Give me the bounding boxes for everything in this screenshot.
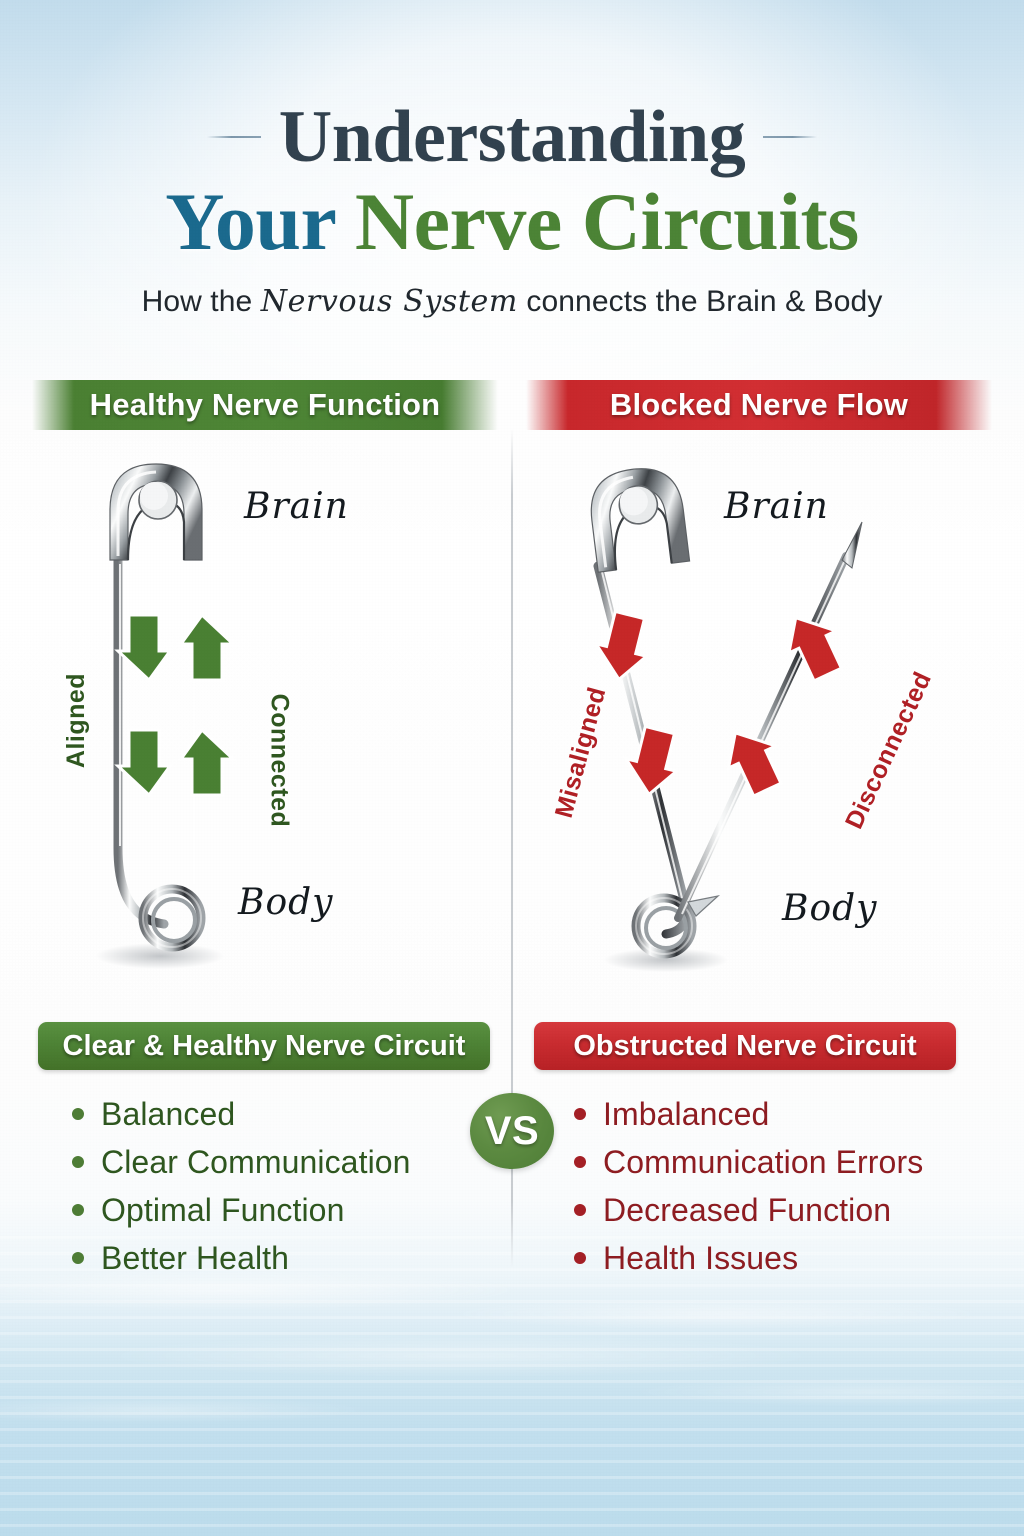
pill-clear-healthy-circuit: Clear & Healthy Nerve Circuit: [38, 1022, 490, 1070]
title-understanding: Understanding: [279, 96, 745, 178]
pill-obstructed-circuit: Obstructed Nerve Circuit: [534, 1022, 956, 1070]
bullet-text: Clear Communication: [101, 1144, 411, 1181]
bullet-dot-icon: [574, 1204, 586, 1216]
list-item: Clear Communication: [72, 1138, 498, 1186]
label-body-left: Body: [238, 882, 334, 923]
bullet-dot-icon: [574, 1156, 586, 1168]
bullet-text: Balanced: [101, 1096, 235, 1133]
panel-blocked: Blocked Nerve Flow: [526, 380, 992, 1270]
list-item: Imbalanced: [574, 1090, 992, 1138]
pill-row-healthy: Clear & Healthy Nerve Circuit: [32, 1022, 498, 1072]
title-line-1: Understanding: [0, 96, 1024, 178]
title-your: Your: [165, 176, 335, 267]
pill-row-blocked: Obstructed Nerve Circuit: [526, 1022, 992, 1072]
list-item: Optimal Function: [72, 1186, 498, 1234]
list-item: Decreased Function: [574, 1186, 992, 1234]
title-nerve-circuits: Nerve Circuits: [355, 176, 859, 267]
comparison-panels: Healthy Nerve Function: [0, 380, 1024, 1270]
panel-healthy: Healthy Nerve Function: [32, 380, 498, 1270]
list-item: Balanced: [72, 1090, 498, 1138]
subtitle-script: Nervous System: [261, 284, 518, 319]
subtitle: How the Nervous System connects the Brai…: [0, 284, 1024, 319]
banner-blocked: Blocked Nerve Flow: [526, 380, 992, 430]
list-item: Communication Errors: [574, 1138, 992, 1186]
bullet-dot-icon: [72, 1156, 84, 1168]
label-aligned: Aligned: [62, 673, 91, 768]
title-dash-left-icon: [207, 136, 261, 138]
vs-badge: VS: [470, 1093, 554, 1169]
bullet-text: Communication Errors: [603, 1144, 923, 1181]
bullet-dot-icon: [72, 1252, 84, 1264]
bullet-text: Health Issues: [603, 1240, 798, 1277]
list-item: Better Health: [72, 1234, 498, 1282]
bullet-text: Optimal Function: [101, 1192, 344, 1229]
subtitle-pre: How the: [142, 285, 253, 318]
banner-healthy: Healthy Nerve Function: [32, 380, 498, 430]
bullet-dot-icon: [574, 1108, 586, 1120]
bullet-dot-icon: [72, 1204, 84, 1216]
bullet-text: Imbalanced: [603, 1096, 769, 1133]
bullet-list-healthy: Balanced Clear Communication Optimal Fun…: [32, 1090, 498, 1282]
list-item: Health Issues: [574, 1234, 992, 1282]
label-brain-right: Brain: [724, 486, 829, 527]
title-block: Understanding Your Nerve Circuits How th…: [0, 96, 1024, 319]
bullet-text: Better Health: [101, 1240, 289, 1277]
label-body-right: Body: [782, 888, 878, 929]
bullet-list-blocked: Imbalanced Communication Errors Decrease…: [526, 1090, 992, 1282]
diagram-healthy: Brain Body Aligned Connected: [32, 448, 498, 1008]
bullet-dot-icon: [72, 1108, 84, 1120]
title-line-2: Your Nerve Circuits: [0, 176, 1024, 268]
diagram-blocked: Brain Body Misaligned Disconnected: [526, 448, 992, 1008]
bullet-text: Decreased Function: [603, 1192, 891, 1229]
infographic-canvas: Understanding Your Nerve Circuits How th…: [0, 0, 1024, 1536]
label-brain-left: Brain: [244, 486, 349, 527]
title-dash-right-icon: [763, 136, 817, 138]
label-connected: Connected: [264, 694, 293, 828]
bullet-dot-icon: [574, 1252, 586, 1264]
subtitle-post: connects the Brain & Body: [526, 285, 882, 318]
